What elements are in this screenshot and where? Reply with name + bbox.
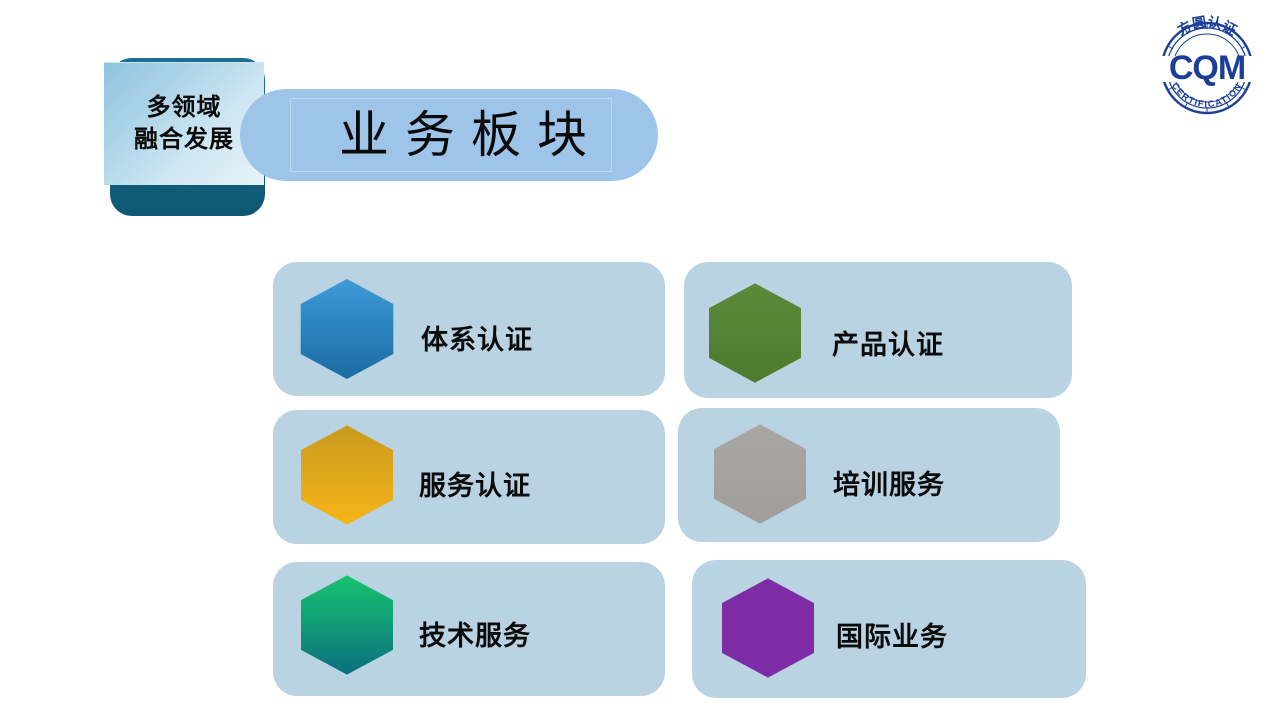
business-card-label: 体系认证 [421,318,533,357]
business-card-label: 产品认证 [832,323,944,362]
business-sections-grid: 体系认证产品认证服务认证培训服务技术服务国际业务 [0,0,1280,720]
hexagon-icon [301,575,393,675]
hexagon-icon [722,578,814,678]
hexagon-icon [301,425,393,525]
business-card-label: 国际业务 [836,615,948,654]
business-card-label: 技术服务 [419,614,531,653]
business-card-label: 服务认证 [419,464,531,503]
hexagon-icon [300,279,394,379]
hexagon-icon [714,424,806,524]
hexagon-icon [709,283,801,383]
business-card-label: 培训服务 [833,463,945,502]
